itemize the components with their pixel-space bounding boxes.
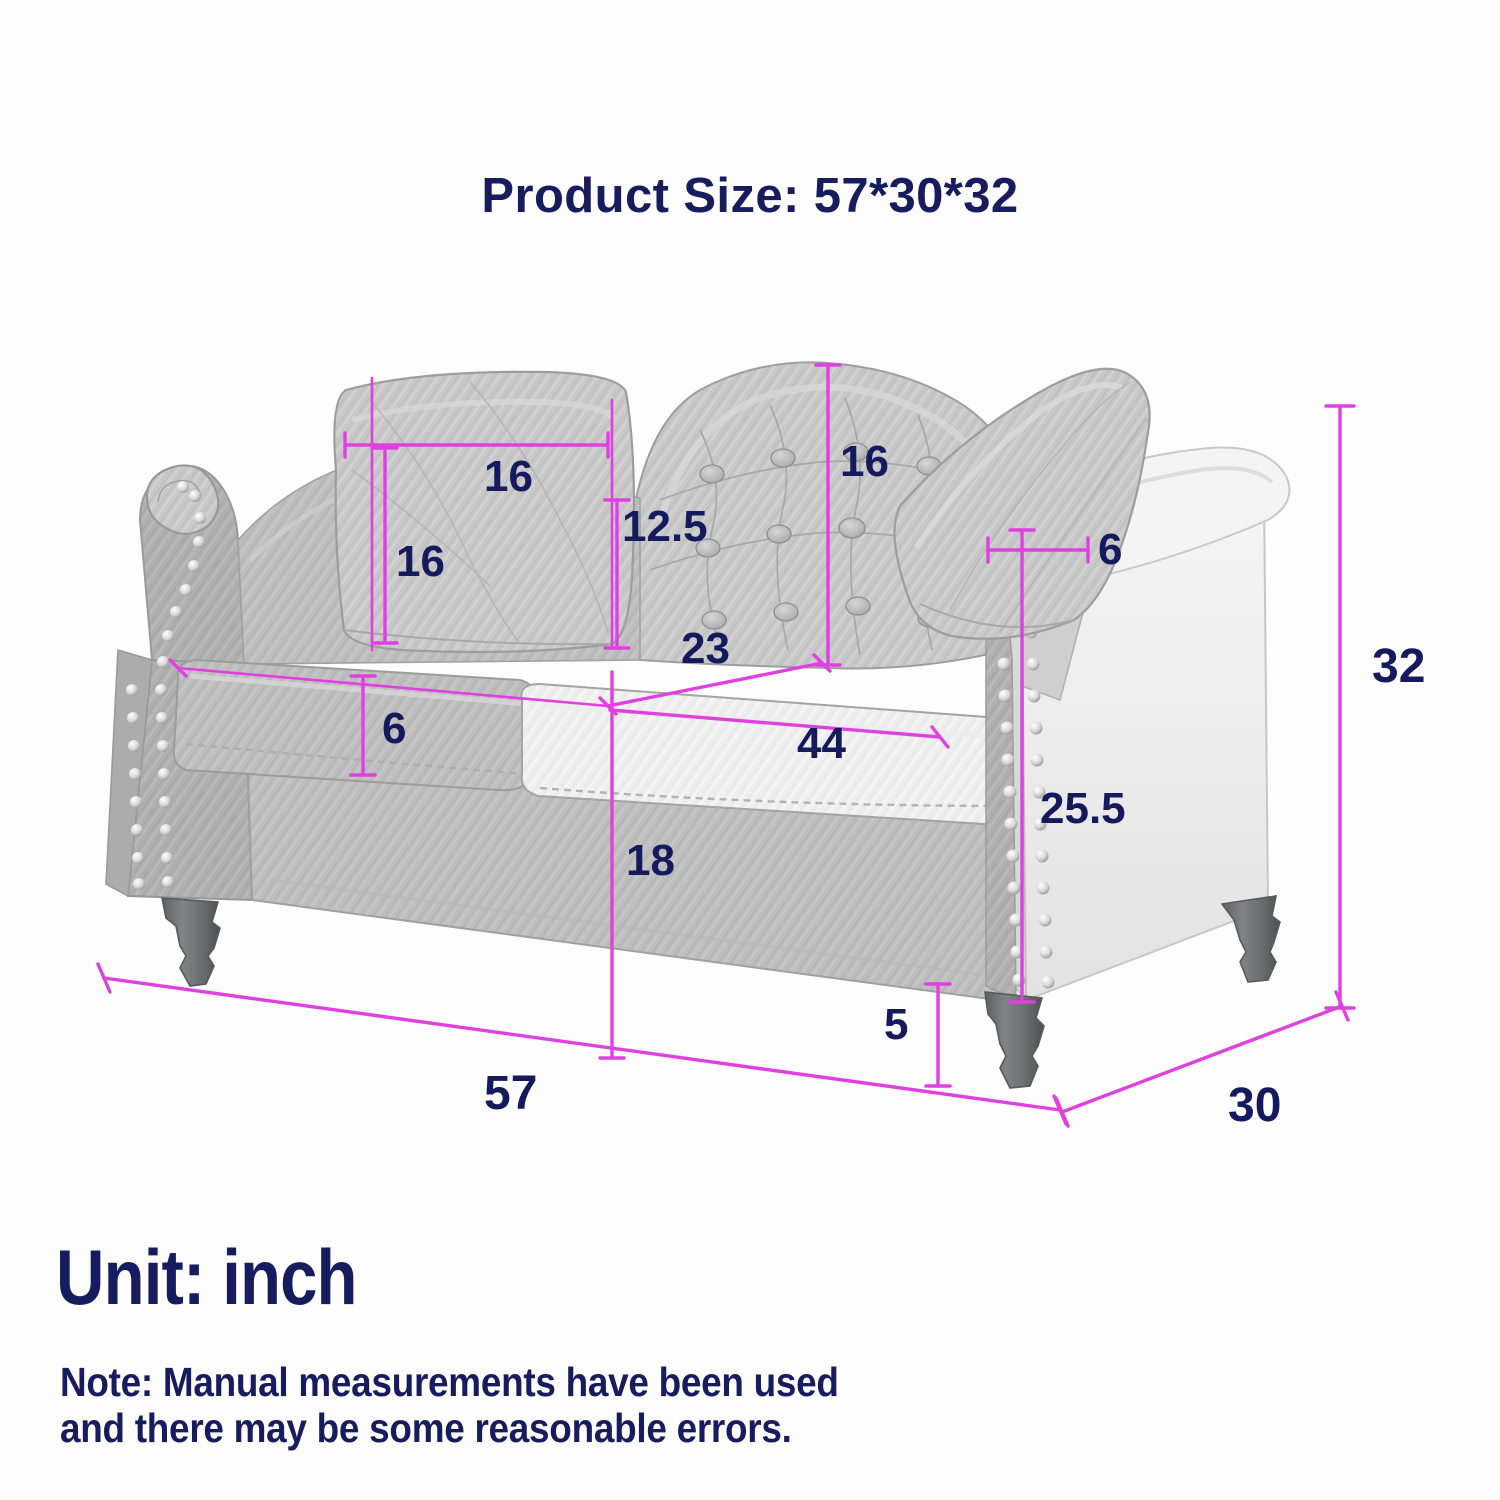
dimline-overall-depth — [1056, 992, 1348, 1126]
dimension-label-overall-depth: 30 — [1228, 1082, 1281, 1130]
throw-pillow-left — [334, 372, 634, 652]
diagram-canvas: Product Size: 57*30*32 — [0, 0, 1500, 1500]
unit-label: Unit: inch — [56, 1238, 357, 1316]
leg-rear-right — [1222, 896, 1280, 982]
dimension-label-pillow-width: 16 — [484, 455, 533, 499]
dimension-label-back-cushion: 12.5 — [622, 505, 708, 549]
measurement-note: Note: Manual measurements have been used… — [60, 1360, 1212, 1452]
dimension-label-leg-height: 5 — [884, 1003, 908, 1047]
dimension-label-seat-depth: 23 — [681, 627, 730, 671]
note-line-1: Note: Manual measurements have been used — [60, 1360, 1212, 1406]
seat-cushion-left — [174, 660, 534, 790]
leg-front-right — [985, 992, 1044, 1088]
dimension-label-cushion-thickness: 6 — [382, 707, 406, 751]
note-line-2: and there may be some reasonable errors. — [60, 1406, 1212, 1452]
dimline-leg-height — [926, 984, 950, 1086]
dimension-label-arm-roll-width: 6 — [1098, 528, 1122, 572]
dimension-label-overall-width: 57 — [484, 1070, 537, 1118]
dimension-label-overall-height: 32 — [1372, 643, 1425, 691]
dimension-label-seat-width: 44 — [797, 722, 846, 766]
dimension-label-back-height: 16 — [840, 440, 889, 484]
dimension-label-pillow-height: 16 — [396, 540, 445, 584]
dimline-overall-height — [1326, 406, 1354, 1008]
leg-front-left — [162, 898, 220, 986]
dimension-label-arm-height: 25.5 — [1040, 787, 1126, 831]
dimension-label-seat-height: 18 — [626, 839, 675, 883]
